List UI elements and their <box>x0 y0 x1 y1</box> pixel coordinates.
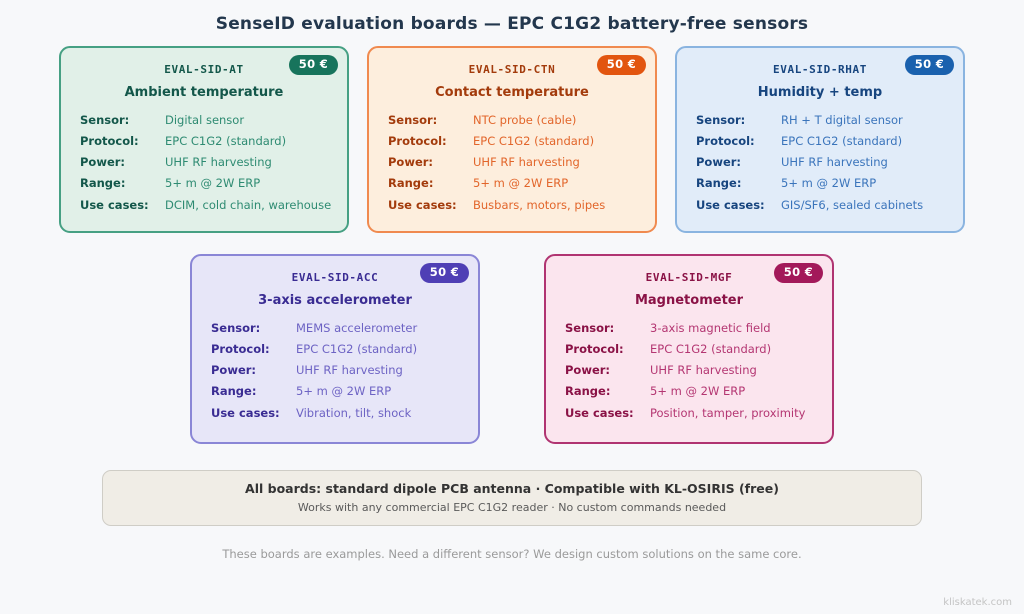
spec-label-power: Power: <box>388 155 473 169</box>
spec-row-range: Range: 5+ m @ 2W ERP <box>211 384 478 398</box>
spec-label-use-cases: Use cases: <box>211 406 296 420</box>
price-badge: 50 € <box>420 263 469 283</box>
spec-label-sensor: Sensor: <box>388 113 473 127</box>
spec-value-protocol: EPC C1G2 (standard) <box>165 134 286 148</box>
board-name: Contact temperature <box>369 85 655 100</box>
spec-row-power: Power: UHF RF harvesting <box>565 363 832 377</box>
spec-label-protocol: Protocol: <box>80 134 165 148</box>
spec-label-protocol: Protocol: <box>388 134 473 148</box>
spec-row-sensor: Sensor: RH + T digital sensor <box>696 113 963 127</box>
spec-label-power: Power: <box>696 155 781 169</box>
card-row-top: 50 € EVAL-SID-AT Ambient temperature Sen… <box>0 46 1024 233</box>
spec-row-range: Range: 5+ m @ 2W ERP <box>565 384 832 398</box>
spec-row-protocol: Protocol: EPC C1G2 (standard) <box>80 134 347 148</box>
spec-label-sensor: Sensor: <box>80 113 165 127</box>
spec-value-use-cases: Vibration, tilt, shock <box>296 406 411 420</box>
spec-value-sensor: RH + T digital sensor <box>781 113 903 127</box>
spec-row-use-cases: Use cases: Busbars, motors, pipes <box>388 198 655 212</box>
price-badge: 50 € <box>905 55 954 75</box>
spec-value-range: 5+ m @ 2W ERP <box>781 176 876 190</box>
spec-list: Sensor: Digital sensor Protocol: EPC C1G… <box>61 113 347 212</box>
spec-row-sensor: Sensor: NTC probe (cable) <box>388 113 655 127</box>
spec-label-sensor: Sensor: <box>211 321 296 335</box>
spec-row-range: Range: 5+ m @ 2W ERP <box>388 176 655 190</box>
spec-value-sensor: MEMS accelerometer <box>296 321 417 335</box>
board-card-eval-sid-rhat[interactable]: 50 € EVAL-SID-RHAT Humidity + temp Senso… <box>675 46 965 233</box>
spec-value-sensor: NTC probe (cable) <box>473 113 576 127</box>
spec-value-sensor: 3-axis magnetic field <box>650 321 771 335</box>
spec-value-use-cases: GIS/SF6, sealed cabinets <box>781 198 923 212</box>
spec-label-sensor: Sensor: <box>565 321 650 335</box>
spec-label-power: Power: <box>565 363 650 377</box>
spec-label-range: Range: <box>565 384 650 398</box>
spec-value-use-cases: Busbars, motors, pipes <box>473 198 605 212</box>
spec-label-range: Range: <box>388 176 473 190</box>
spec-list: Sensor: 3-axis magnetic field Protocol: … <box>546 321 832 420</box>
board-name: Ambient temperature <box>61 85 347 100</box>
spec-value-power: UHF RF harvesting <box>781 155 888 169</box>
spec-row-use-cases: Use cases: Position, tamper, proximity <box>565 406 832 420</box>
watermark: kliskatek.com <box>943 597 1012 608</box>
spec-label-sensor: Sensor: <box>696 113 781 127</box>
spec-list: Sensor: RH + T digital sensor Protocol: … <box>677 113 963 212</box>
closing-note: These boards are examples. Need a differ… <box>0 547 1024 561</box>
board-card-eval-sid-acc[interactable]: 50 € EVAL-SID-ACC 3-axis accelerometer S… <box>190 254 480 444</box>
footer-banner-wrap: All boards: standard dipole PCB antenna … <box>0 470 1024 526</box>
spec-row-range: Range: 5+ m @ 2W ERP <box>80 176 347 190</box>
spec-label-power: Power: <box>211 363 296 377</box>
spec-value-range: 5+ m @ 2W ERP <box>473 176 568 190</box>
spec-label-power: Power: <box>80 155 165 169</box>
spec-value-power: UHF RF harvesting <box>473 155 580 169</box>
spec-value-use-cases: DCIM, cold chain, warehouse <box>165 198 331 212</box>
banner-subtext: Works with any commercial EPC C1G2 reade… <box>103 501 921 514</box>
spec-label-protocol: Protocol: <box>211 342 296 356</box>
spec-list: Sensor: MEMS accelerometer Protocol: EPC… <box>192 321 478 420</box>
spec-row-protocol: Protocol: EPC C1G2 (standard) <box>565 342 832 356</box>
board-name: Magnetometer <box>546 293 832 308</box>
spec-value-power: UHF RF harvesting <box>165 155 272 169</box>
spec-value-power: UHF RF harvesting <box>296 363 403 377</box>
spec-label-range: Range: <box>80 176 165 190</box>
spec-label-range: Range: <box>211 384 296 398</box>
spec-value-sensor: Digital sensor <box>165 113 244 127</box>
spec-row-sensor: Sensor: MEMS accelerometer <box>211 321 478 335</box>
price-badge: 50 € <box>597 55 646 75</box>
spec-value-protocol: EPC C1G2 (standard) <box>473 134 594 148</box>
spec-label-use-cases: Use cases: <box>696 198 781 212</box>
board-name: Humidity + temp <box>677 85 963 100</box>
spec-value-power: UHF RF harvesting <box>650 363 757 377</box>
spec-row-sensor: Sensor: 3-axis magnetic field <box>565 321 832 335</box>
spec-value-range: 5+ m @ 2W ERP <box>650 384 745 398</box>
spec-label-use-cases: Use cases: <box>388 198 473 212</box>
banner-headline: All boards: standard dipole PCB antenna … <box>103 481 921 496</box>
spec-list: Sensor: NTC probe (cable) Protocol: EPC … <box>369 113 655 212</box>
spec-row-use-cases: Use cases: Vibration, tilt, shock <box>211 406 478 420</box>
board-name: 3-axis accelerometer <box>192 293 478 308</box>
spec-value-protocol: EPC C1G2 (standard) <box>650 342 771 356</box>
spec-value-range: 5+ m @ 2W ERP <box>296 384 391 398</box>
spec-row-range: Range: 5+ m @ 2W ERP <box>696 176 963 190</box>
spec-row-protocol: Protocol: EPC C1G2 (standard) <box>388 134 655 148</box>
spec-row-power: Power: UHF RF harvesting <box>696 155 963 169</box>
footer-banner: All boards: standard dipole PCB antenna … <box>102 470 922 526</box>
spec-row-protocol: Protocol: EPC C1G2 (standard) <box>211 342 478 356</box>
spec-value-range: 5+ m @ 2W ERP <box>165 176 260 190</box>
spec-row-use-cases: Use cases: GIS/SF6, sealed cabinets <box>696 198 963 212</box>
board-card-eval-sid-mgf[interactable]: 50 € EVAL-SID-MGF Magnetometer Sensor: 3… <box>544 254 834 444</box>
spec-label-use-cases: Use cases: <box>565 406 650 420</box>
spec-row-power: Power: UHF RF harvesting <box>211 363 478 377</box>
spec-label-range: Range: <box>696 176 781 190</box>
spec-row-power: Power: UHF RF harvesting <box>80 155 347 169</box>
spec-label-protocol: Protocol: <box>696 134 781 148</box>
spec-row-protocol: Protocol: EPC C1G2 (standard) <box>696 134 963 148</box>
spec-value-protocol: EPC C1G2 (standard) <box>296 342 417 356</box>
spec-value-use-cases: Position, tamper, proximity <box>650 406 805 420</box>
price-badge: 50 € <box>774 263 823 283</box>
spec-row-power: Power: UHF RF harvesting <box>388 155 655 169</box>
card-row-bottom: 50 € EVAL-SID-ACC 3-axis accelerometer S… <box>0 254 1024 444</box>
board-card-eval-sid-ctn[interactable]: 50 € EVAL-SID-CTN Contact temperature Se… <box>367 46 657 233</box>
spec-row-sensor: Sensor: Digital sensor <box>80 113 347 127</box>
spec-value-protocol: EPC C1G2 (standard) <box>781 134 902 148</box>
spec-label-protocol: Protocol: <box>565 342 650 356</box>
board-card-eval-sid-at[interactable]: 50 € EVAL-SID-AT Ambient temperature Sen… <box>59 46 349 233</box>
page-title: SenseID evaluation boards — EPC C1G2 bat… <box>0 0 1024 34</box>
spec-label-use-cases: Use cases: <box>80 198 165 212</box>
price-badge: 50 € <box>289 55 338 75</box>
spec-row-use-cases: Use cases: DCIM, cold chain, warehouse <box>80 198 347 212</box>
